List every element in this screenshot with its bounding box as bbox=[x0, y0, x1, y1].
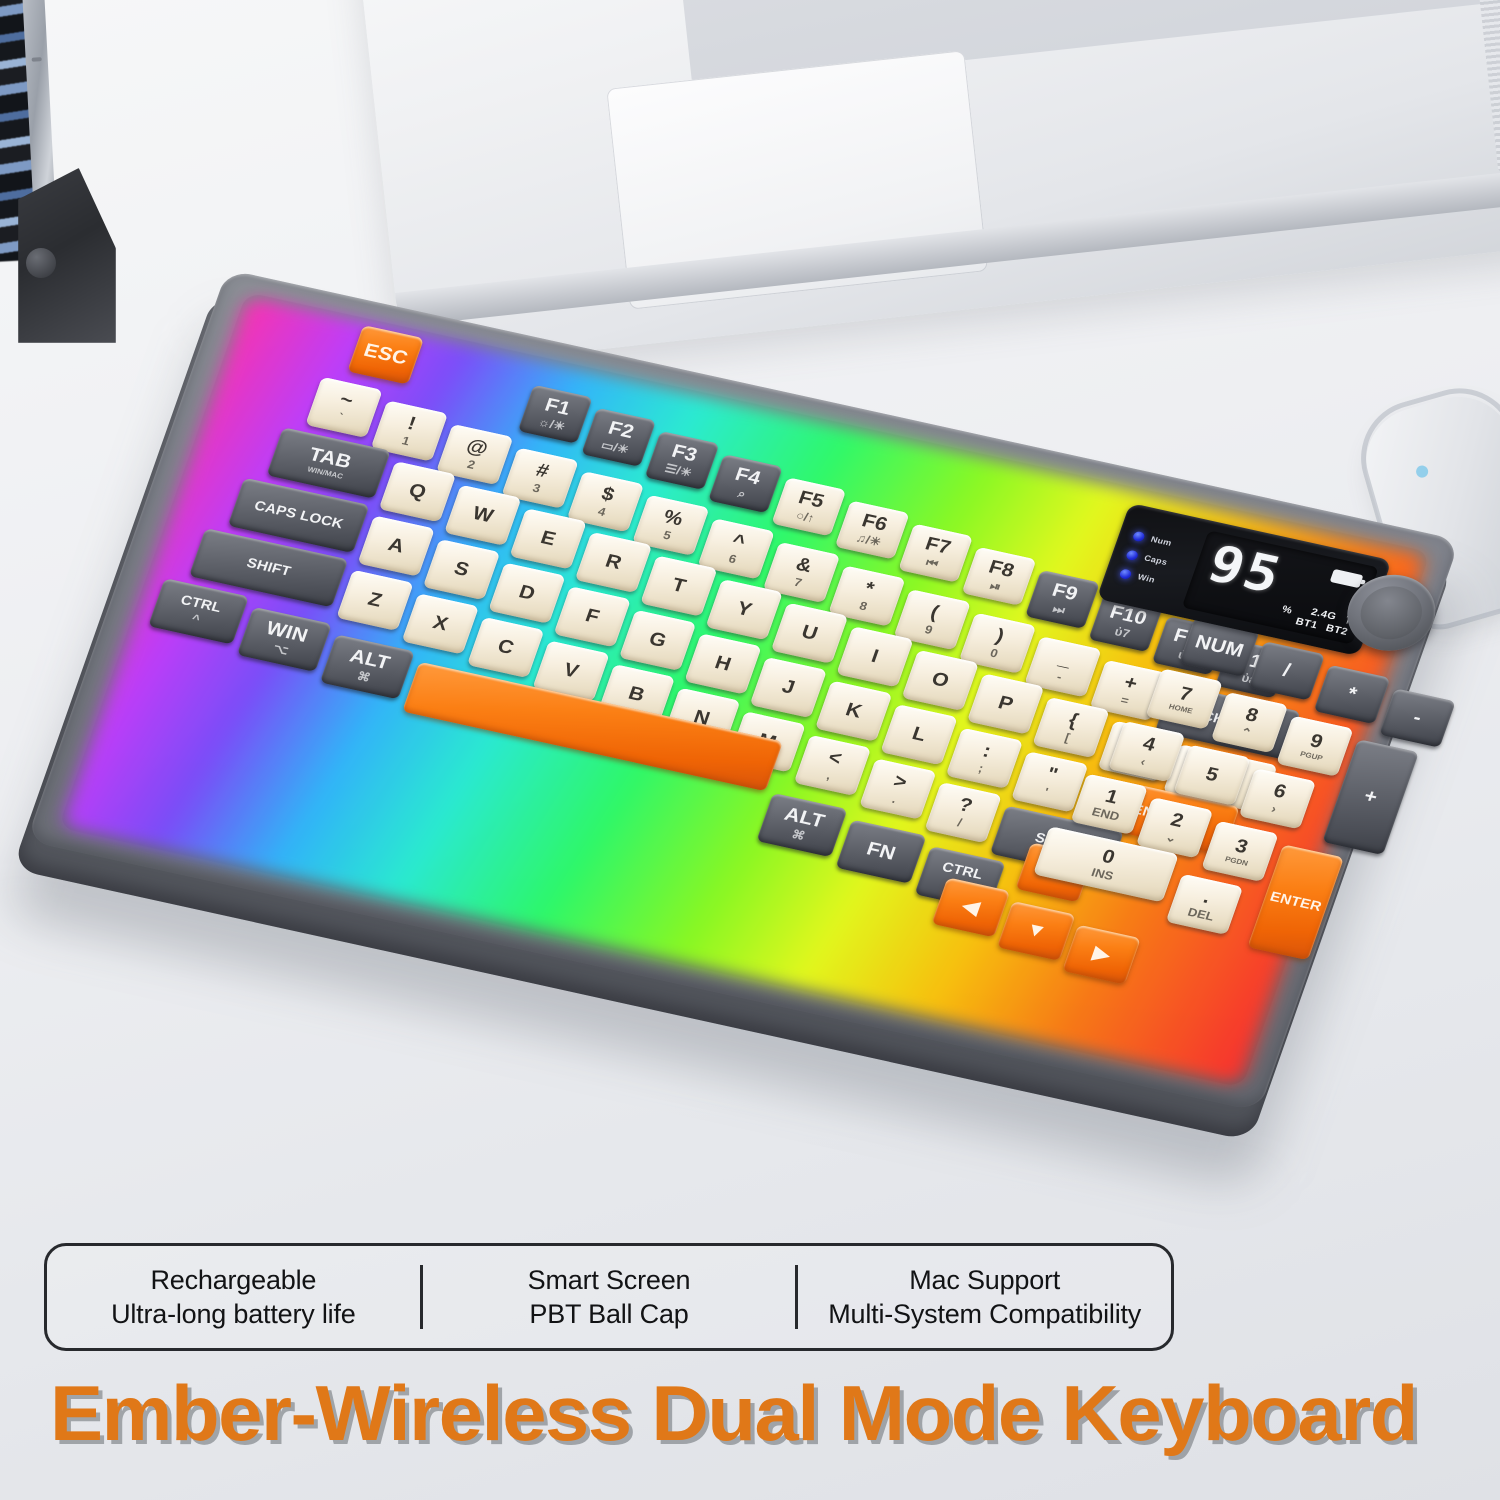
key-lalt[interactable]: ALT⌘ bbox=[320, 634, 415, 699]
key-f7-sublegend: ⏮ bbox=[924, 556, 940, 570]
key-9-legend: ( bbox=[928, 603, 942, 623]
key-np9-sublegend: PGUP bbox=[1299, 750, 1324, 762]
feature-1-title: Rechargeable bbox=[150, 1265, 316, 1296]
key-equal-sublegend: = bbox=[1119, 694, 1131, 707]
key-f6-sublegend: ♫/☀ bbox=[854, 532, 883, 549]
key-np0-legend: 0 bbox=[1099, 847, 1117, 868]
feature-mac-support: Mac Support Multi-System Compatibility bbox=[798, 1265, 1171, 1330]
key-6-legend: ^ bbox=[729, 531, 748, 553]
key-l-legend: L bbox=[909, 724, 928, 746]
key-5-legend: % bbox=[661, 507, 686, 530]
key-j-legend: J bbox=[779, 677, 797, 698]
key-lshift-legend: SHIFT bbox=[245, 556, 293, 579]
key-np2-sublegend: ⌄ bbox=[1164, 831, 1179, 845]
key-k[interactable]: K bbox=[815, 681, 892, 742]
key-slash-legend: ? bbox=[956, 795, 975, 817]
feature-3-subtitle: Multi-System Compatibility bbox=[828, 1299, 1141, 1330]
win-led-label: Win bbox=[1136, 572, 1156, 584]
key-period[interactable]: >. bbox=[859, 758, 936, 819]
key-g[interactable]: G bbox=[619, 610, 696, 671]
feature-2-title: Smart Screen bbox=[528, 1265, 691, 1296]
key-quote-legend: " bbox=[1044, 765, 1061, 786]
key-v-legend: V bbox=[561, 660, 582, 682]
indicator-caps: Caps bbox=[1125, 549, 1197, 573]
key-w-legend: W bbox=[470, 504, 496, 527]
key-f5[interactable]: F5○/↑ bbox=[771, 477, 846, 536]
key-p-legend: P bbox=[995, 693, 1016, 715]
key-caps-legend: CAPS LOCK bbox=[252, 499, 345, 532]
feature-3-title: Mac Support bbox=[909, 1265, 1060, 1296]
key-tilde-legend: ~ bbox=[337, 390, 356, 412]
feature-highlights-box: Rechargeable Ultra-long battery life Sma… bbox=[44, 1243, 1174, 1351]
key-i-legend: I bbox=[869, 647, 882, 667]
key-arrow-down[interactable]: ▼ bbox=[997, 901, 1076, 961]
key-6-sublegend: 6 bbox=[727, 553, 738, 566]
key-s[interactable]: S bbox=[423, 539, 500, 600]
key-4-sublegend: 4 bbox=[596, 505, 607, 518]
key-f7[interactable]: F7⏮ bbox=[898, 524, 973, 583]
feature-1-subtitle: Ultra-long battery life bbox=[111, 1299, 356, 1330]
caps-led-icon bbox=[1125, 549, 1139, 561]
key-y-legend: Y bbox=[734, 599, 755, 621]
key-f-legend: F bbox=[583, 606, 602, 628]
feature-2-subtitle: PBT Ball Cap bbox=[529, 1299, 688, 1330]
key-f1[interactable]: F1☼/☀ bbox=[518, 385, 593, 444]
key-esc-legend: ESC bbox=[361, 341, 410, 369]
key-r-legend: R bbox=[603, 551, 625, 573]
key-5-sublegend: 5 bbox=[662, 529, 673, 542]
key-np9-legend: 9 bbox=[1307, 731, 1325, 752]
key-lwin-legend: WIN bbox=[263, 619, 310, 647]
key-np4-sublegend: ‹ bbox=[1139, 756, 1147, 769]
key-np3-legend: 3 bbox=[1232, 836, 1250, 857]
key-b-legend: B bbox=[626, 684, 648, 706]
key-d-legend: D bbox=[516, 582, 538, 604]
key-f2[interactable]: F2▭/☀ bbox=[581, 408, 656, 467]
key-divide-legend: / bbox=[1280, 661, 1293, 681]
num-led-label: Num bbox=[1150, 535, 1173, 548]
key-npadd-legend: + bbox=[1361, 786, 1380, 808]
key-3-sublegend: 3 bbox=[531, 482, 542, 495]
key-f4-sublegend: ⌕ bbox=[736, 487, 747, 500]
caps-led-label: Caps bbox=[1143, 553, 1169, 567]
key-4-legend: $ bbox=[599, 484, 617, 505]
key-7-legend: & bbox=[793, 555, 815, 577]
key-2-sublegend: 2 bbox=[465, 458, 476, 471]
key-c-legend: C bbox=[495, 636, 517, 658]
key-multiply-legend: * bbox=[1345, 684, 1360, 705]
key-c[interactable]: C bbox=[467, 617, 544, 678]
key-lalt-sublegend: ⌘ bbox=[355, 670, 372, 684]
percent-symbol: % bbox=[1280, 604, 1293, 616]
indicator-win: Win bbox=[1119, 568, 1191, 592]
key-arrow-right[interactable]: ▶ bbox=[1062, 925, 1141, 985]
key-f5-sublegend: ○/↑ bbox=[794, 509, 816, 525]
key-fn[interactable]: FN bbox=[835, 820, 926, 884]
key-npenter-legend: ENTER bbox=[1268, 890, 1323, 915]
key-f8-legend: F8 bbox=[986, 558, 1017, 582]
key-np6-legend: 6 bbox=[1271, 781, 1289, 802]
key-np1-sublegend: END bbox=[1090, 806, 1121, 824]
key-f8-sublegend: ⏯ bbox=[988, 580, 1002, 594]
key-comma-sublegend: , bbox=[825, 770, 833, 782]
num-led-icon bbox=[1132, 530, 1146, 542]
key-np5-legend: 5 bbox=[1203, 764, 1221, 785]
key-lbracket-legend: { bbox=[1066, 711, 1081, 732]
key-f4-legend: F4 bbox=[732, 465, 763, 489]
indicator-num: Num bbox=[1132, 530, 1204, 554]
key-npdot-legend: . bbox=[1201, 888, 1214, 908]
key-num-legend: NUM bbox=[1192, 632, 1246, 661]
key-subtract-legend: - bbox=[1411, 708, 1425, 728]
key-f9-sublegend: ⏭ bbox=[1051, 603, 1067, 617]
key-f7-legend: F7 bbox=[922, 534, 953, 558]
key-g-legend: G bbox=[646, 629, 669, 651]
key-semicolon-sublegend: ; bbox=[977, 762, 985, 775]
key-npdot[interactable]: .DEL bbox=[1166, 874, 1243, 935]
key-np7-sublegend: HOME bbox=[1168, 703, 1194, 715]
key-1-legend: ! bbox=[405, 414, 419, 434]
key-arrow-left[interactable]: ◀ bbox=[931, 877, 1010, 937]
key-semicolon-legend: : bbox=[980, 741, 994, 761]
key-s-legend: S bbox=[451, 559, 472, 581]
key-np6-sublegend: › bbox=[1270, 803, 1278, 816]
key-tilde[interactable]: ~` bbox=[305, 377, 382, 438]
key-np4-legend: 4 bbox=[1140, 734, 1158, 755]
key-ralt-legend: ALT bbox=[782, 805, 828, 832]
tablet-stand-hinge bbox=[26, 248, 56, 278]
key-lctrl-sublegend: ^ bbox=[190, 612, 202, 625]
key-f6[interactable]: F6♫/☀ bbox=[835, 500, 910, 559]
key-np2-legend: 2 bbox=[1168, 810, 1186, 831]
key-comma[interactable]: <, bbox=[794, 735, 871, 796]
key-3-legend: # bbox=[533, 461, 551, 482]
key-lctrl[interactable]: CTRL^ bbox=[148, 578, 249, 644]
key-f9[interactable]: F9⏭ bbox=[1025, 570, 1100, 629]
feature-smart-screen: Smart Screen PBT Ball Cap bbox=[423, 1265, 796, 1330]
key-f4[interactable]: F4⌕ bbox=[708, 454, 783, 513]
key-esc[interactable]: ESC bbox=[347, 325, 424, 384]
key-d[interactable]: D bbox=[488, 563, 565, 624]
key-ralt[interactable]: ALT⌘ bbox=[756, 793, 847, 857]
key-a[interactable]: A bbox=[357, 515, 434, 576]
key-semicolon[interactable]: :; bbox=[946, 728, 1023, 789]
key-minus-legend: _ bbox=[1056, 649, 1074, 670]
battery-percentage-value: 95 bbox=[1202, 540, 1288, 601]
key-np3-sublegend: PGDN bbox=[1224, 856, 1249, 868]
key-2-legend: @ bbox=[464, 436, 491, 459]
key-u-legend: U bbox=[799, 622, 821, 644]
key-np0-sublegend: INS bbox=[1090, 866, 1115, 882]
battery-icon bbox=[1330, 569, 1364, 588]
key-np8-legend: 8 bbox=[1243, 705, 1261, 726]
key-0-sublegend: 0 bbox=[988, 647, 999, 660]
key-period-sublegend: . bbox=[890, 793, 898, 805]
win-led-icon bbox=[1119, 568, 1133, 580]
key-lbracket-sublegend: [ bbox=[1063, 732, 1071, 745]
key-equal-legend: + bbox=[1121, 673, 1140, 695]
key-z[interactable]: Z bbox=[336, 570, 413, 631]
key-e-legend: E bbox=[538, 528, 559, 550]
key-q-legend: Q bbox=[406, 481, 429, 503]
key-np8-sublegend: ⌃ bbox=[1239, 726, 1254, 740]
key-period-legend: > bbox=[891, 772, 910, 794]
key-7-sublegend: 7 bbox=[792, 576, 803, 589]
key-o-legend: O bbox=[929, 669, 952, 691]
product-marketing-image: XCVBNM<,./?ZXCVBNM<>?GHJKL;’BNM<>? ESCF1… bbox=[0, 0, 1500, 1500]
key-k-legend: K bbox=[843, 700, 865, 722]
key-lwin[interactable]: WIN⌥ bbox=[237, 607, 332, 672]
key-t-legend: T bbox=[669, 575, 688, 597]
key-l[interactable]: L bbox=[880, 704, 957, 765]
key-tilde-sublegend: ` bbox=[336, 411, 344, 424]
key-arrow-down-legend: ▼ bbox=[1023, 919, 1050, 942]
key-multiply[interactable]: * bbox=[1314, 665, 1391, 724]
key-slash-sublegend: / bbox=[956, 817, 964, 829]
key-x-legend: X bbox=[430, 613, 451, 635]
key-np1-legend: 1 bbox=[1102, 787, 1120, 808]
key-f10-sublegend: ὐ7 bbox=[1113, 625, 1132, 640]
key-arrow-left-legend: ◀ bbox=[960, 896, 983, 918]
key-f8[interactable]: F8⏯ bbox=[962, 547, 1037, 606]
key-f[interactable]: F bbox=[554, 586, 631, 647]
key-quote-sublegend: ' bbox=[1043, 786, 1050, 798]
key-ralt-sublegend: ⌘ bbox=[790, 828, 807, 842]
key-h-legend: H bbox=[712, 653, 734, 675]
key-lwin-sublegend: ⌥ bbox=[271, 642, 290, 657]
key-comma-legend: < bbox=[825, 748, 844, 770]
key-1-sublegend: 1 bbox=[400, 435, 411, 448]
key-minus-sublegend: - bbox=[1055, 671, 1063, 684]
key-f9-legend: F9 bbox=[1049, 581, 1080, 605]
key-x[interactable]: X bbox=[402, 593, 479, 654]
key-f3[interactable]: F3☰/☀ bbox=[645, 431, 720, 490]
key-h[interactable]: H bbox=[684, 633, 761, 694]
key-0-legend: ) bbox=[993, 626, 1007, 646]
key-fn-legend: FN bbox=[864, 839, 898, 864]
feature-rechargeable: Rechargeable Ultra-long battery life bbox=[47, 1265, 420, 1330]
key-8-sublegend: 8 bbox=[858, 600, 869, 613]
key-a-legend: A bbox=[385, 535, 407, 557]
key-z-legend: Z bbox=[365, 590, 384, 612]
key-8-legend: * bbox=[862, 579, 877, 600]
key-lalt-legend: ALT bbox=[347, 646, 393, 673]
key-9-sublegend: 9 bbox=[923, 623, 934, 636]
key-j[interactable]: J bbox=[750, 657, 827, 718]
key-arrow-right-legend: ▶ bbox=[1090, 943, 1113, 965]
key-np7-legend: 7 bbox=[1177, 684, 1195, 705]
key-npdot-sublegend: DEL bbox=[1186, 906, 1216, 923]
key-slash[interactable]: ?/ bbox=[924, 782, 1001, 843]
connection-modes: 2.4G ᛏ BT1 BT2 bbox=[1294, 604, 1354, 638]
product-headline: Ember-Wireless Dual Mode Keyboard bbox=[50, 1368, 1488, 1459]
